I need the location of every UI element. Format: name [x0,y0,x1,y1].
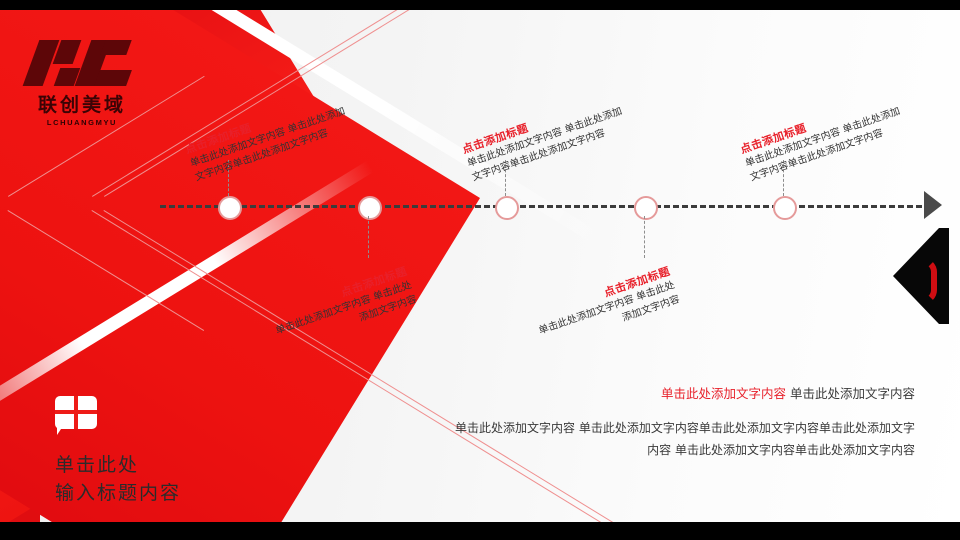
timeline-node-2[interactable] [358,196,382,220]
slide-stage: 联创美域 LCHUANGMYU 单击此处 输入标题内容 [0,10,960,522]
page-title[interactable]: 单击此处 输入标题内容 [55,452,315,507]
bottom-left-title-block: 单击此处 输入标题内容 [55,396,315,507]
logo-en-text: LCHUANGMYU [18,118,146,127]
page-title-line1: 单击此处 [55,452,315,480]
logo: 联创美域 LCHUANGMYU [18,38,146,124]
chevron-right-icon [917,258,937,304]
top-black-bar [0,0,960,10]
bottom-black-bar [0,522,960,540]
timeline-label-5[interactable]: 点击添加标题 单击此处添加文字内容 单击此处添加 文字内容单击此处添加文字内容 [738,89,907,186]
timeline-node-3[interactable] [495,196,519,220]
bottom-right-body: 单击此处添加文字内容 单击此处添加文字内容单击此处添加文字内容单击此处添加文字内… [455,418,915,461]
logo-cn-text: 联创美域 [18,90,146,117]
timeline-node-1[interactable] [218,196,242,220]
timeline-label-3[interactable]: 点击添加标题 单击此处添加文字内容 单击此处添加 文字内容单击此处添加文字内容 [460,89,629,186]
slide-canvas: 联创美域 LCHUANGMYU 单击此处 输入标题内容 [0,0,960,540]
timeline-label-4[interactable]: 点击添加标题 单击此处添加文字内容 单击此处 添加文字内容 [492,263,682,367]
arrow-right-icon [924,191,942,219]
timeline-axis [160,205,922,208]
speech-bubble-icon [55,396,97,436]
timeline-node-5[interactable] [773,196,797,220]
bottom-right-lead: 单击此处添加文字内容 单击此处添加文字内容 [455,384,915,404]
page-title-line2: 输入标题内容 [55,480,315,508]
timeline-node-4[interactable] [634,196,658,220]
logo-mark-icon [27,38,137,86]
timeline-stem-2 [368,216,369,258]
right-badge [893,228,951,324]
bottom-right-lead-rest: 单击此处添加文字内容 [790,386,915,401]
bottom-right-text-block[interactable]: 单击此处添加文字内容 单击此处添加文字内容 单击此处添加文字内容 单击此处添加文… [455,384,915,461]
bottom-right-lead-highlight: 单击此处添加文字内容 [661,386,786,401]
timeline-stem-4 [644,216,645,258]
